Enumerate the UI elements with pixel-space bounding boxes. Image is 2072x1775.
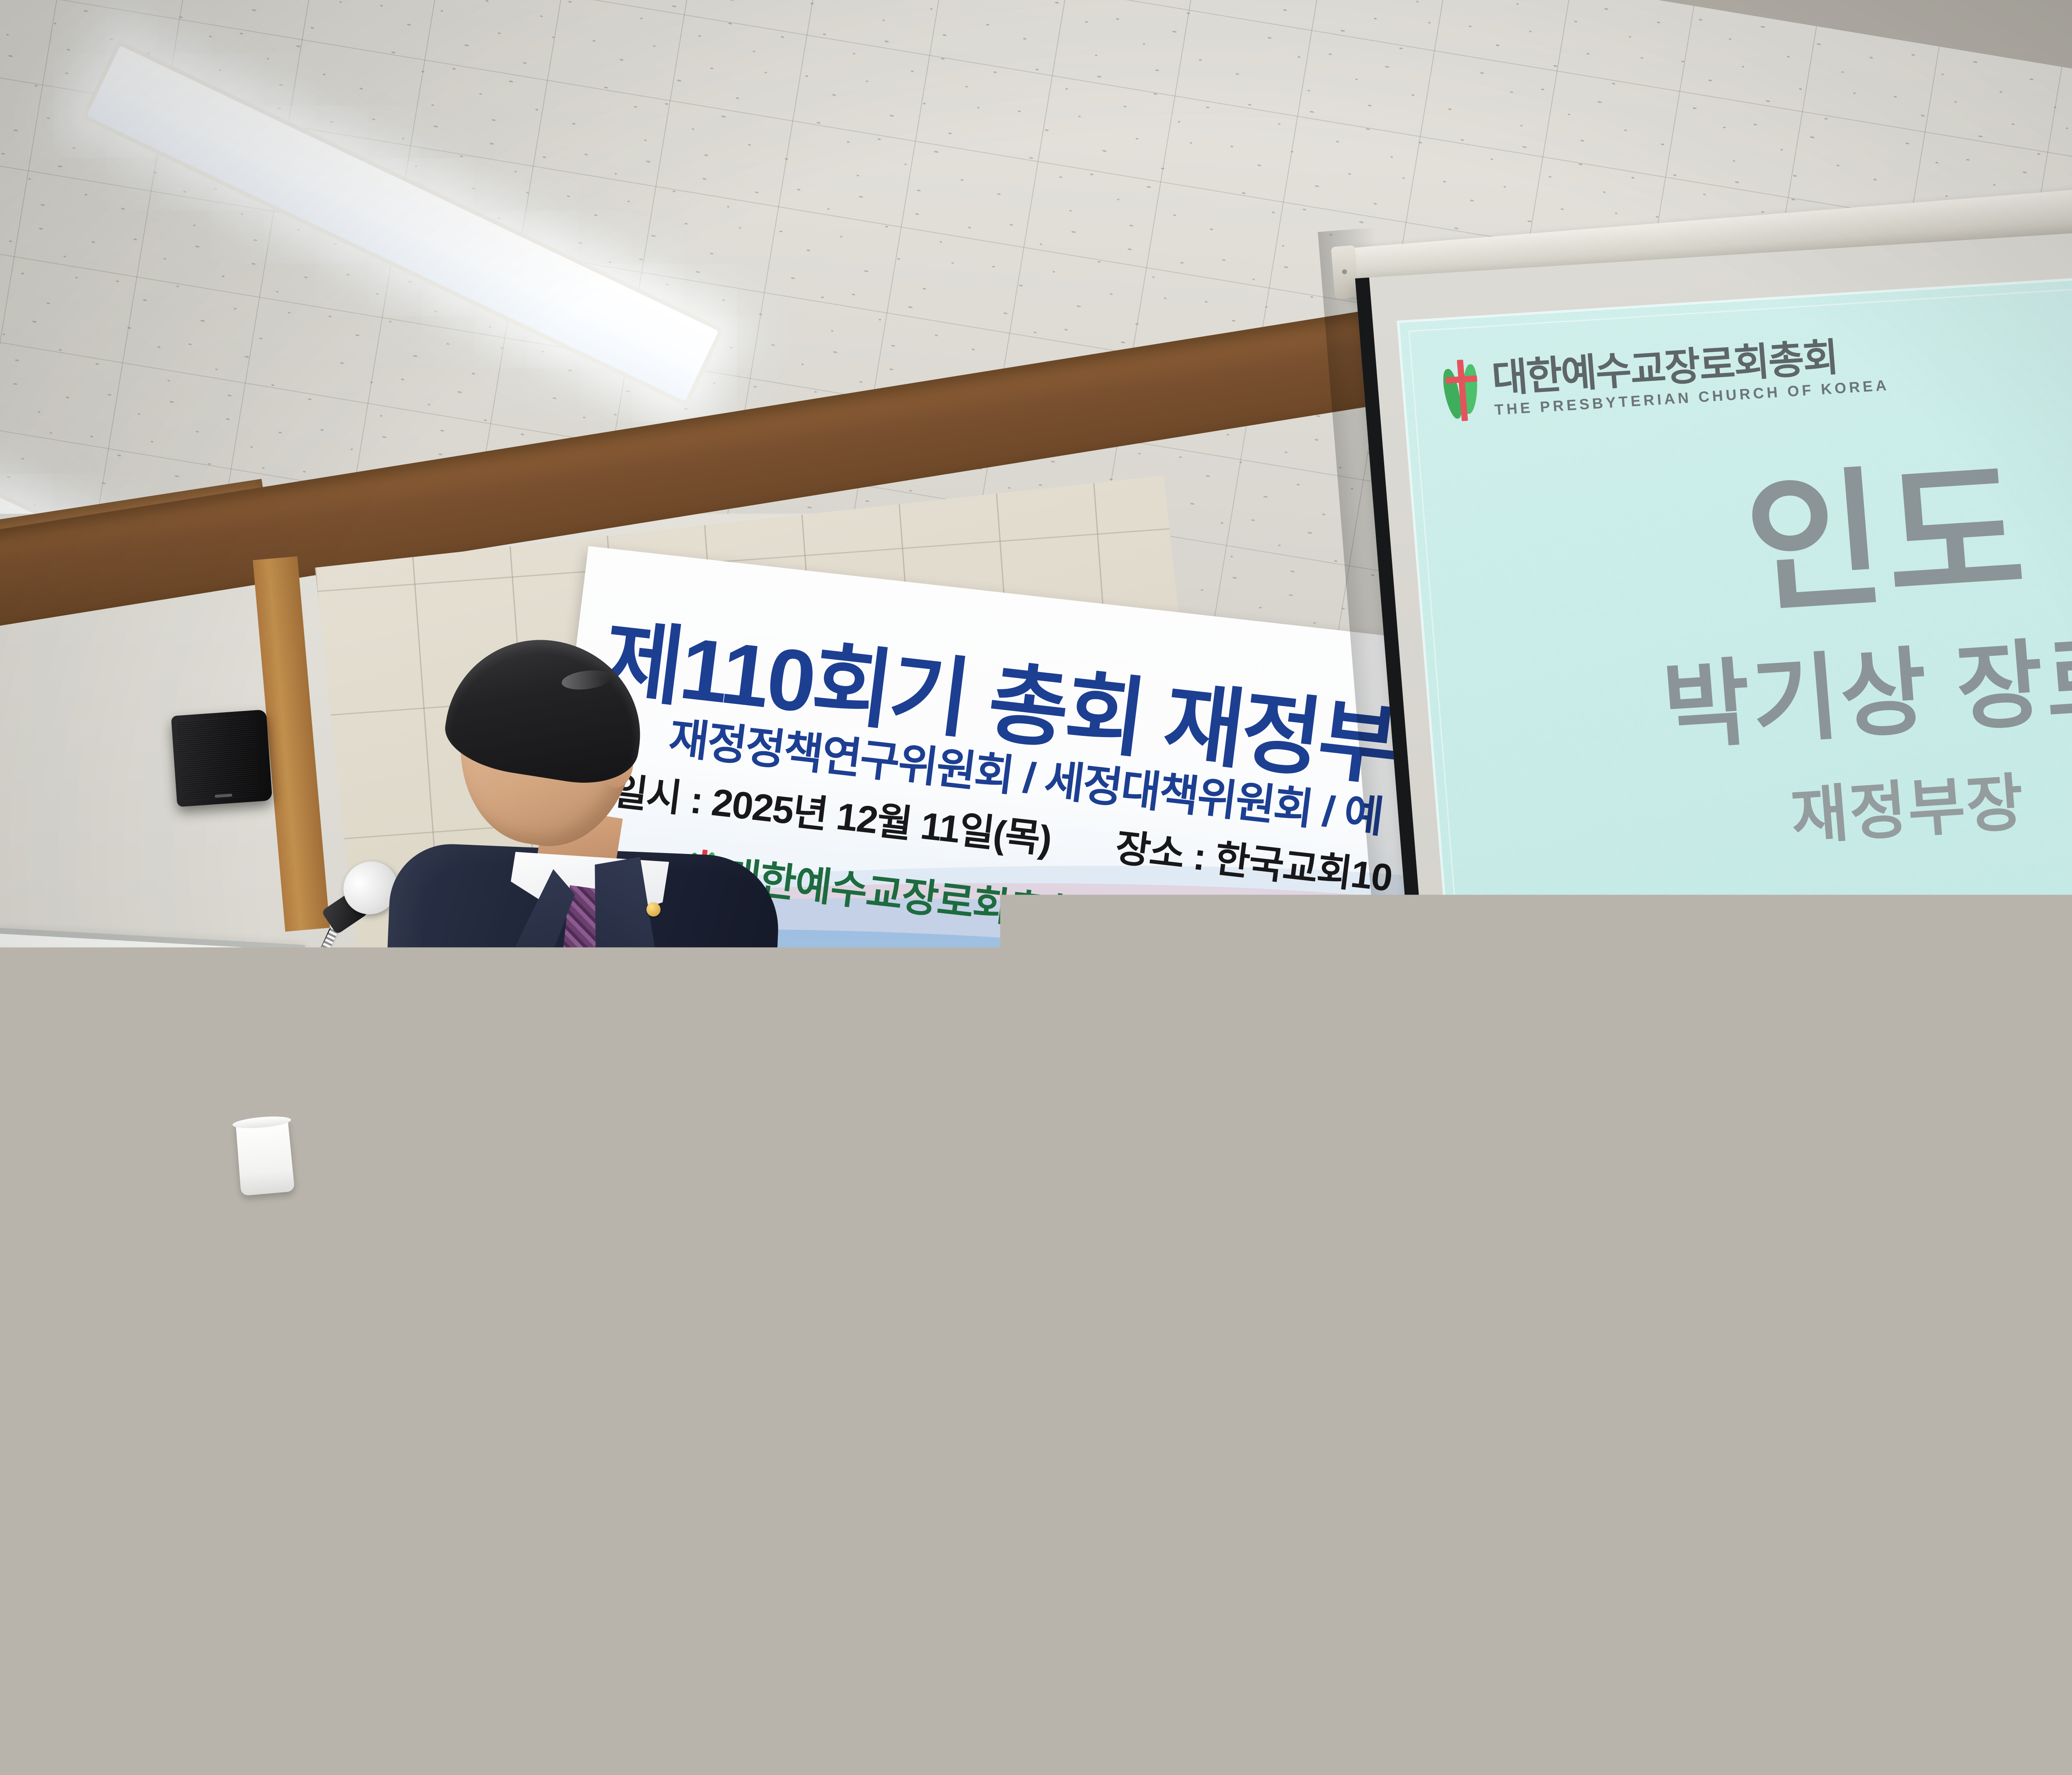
- presentation-room-photo: 제110회기 총회 재정부 재정정책연구위원회 / 세정대책위원회 / 예 일시…: [0, 0, 2072, 1775]
- vent-louvers: [1973, 1414, 2072, 1772]
- wooden-podium: A Ω: [0, 1077, 713, 1775]
- projected-slide: 대한예수교장로회총회 THE PRESBYTERIAN CHURCH OF KO…: [1397, 261, 2072, 1006]
- pa-speaker: [171, 709, 273, 807]
- ledge-highlight: [43, 1079, 333, 1110]
- grape-berry: [156, 1629, 169, 1643]
- grape-vine-carving: [108, 1570, 211, 1662]
- grape-berry: [134, 1615, 148, 1629]
- projection-screen: 대한예수교장로회총회 THE PRESBYTERIAN CHURCH OF KO…: [1355, 214, 2072, 1187]
- podium-book-ledge: [43, 1079, 339, 1194]
- screen-pull-hook[interactable]: [1899, 1160, 1958, 1197]
- paper-cup[interactable]: [236, 1119, 295, 1196]
- presbyterian-cross-logo: [1440, 358, 1485, 422]
- podium-capital-right: [254, 1263, 340, 1321]
- lapel-pin: [646, 902, 661, 917]
- alpha-carving: A: [63, 1452, 115, 1528]
- grape-berry: [161, 1614, 174, 1627]
- grape-berry: [150, 1642, 163, 1655]
- vine-arch: [120, 1570, 201, 1617]
- omega-carving: Ω: [212, 1489, 269, 1565]
- screen-housing-endcap: [1331, 245, 1359, 299]
- vent-cabinet-frame: [1962, 1403, 2072, 1775]
- speaker-grille: [177, 716, 260, 801]
- spacer: [1059, 854, 1104, 859]
